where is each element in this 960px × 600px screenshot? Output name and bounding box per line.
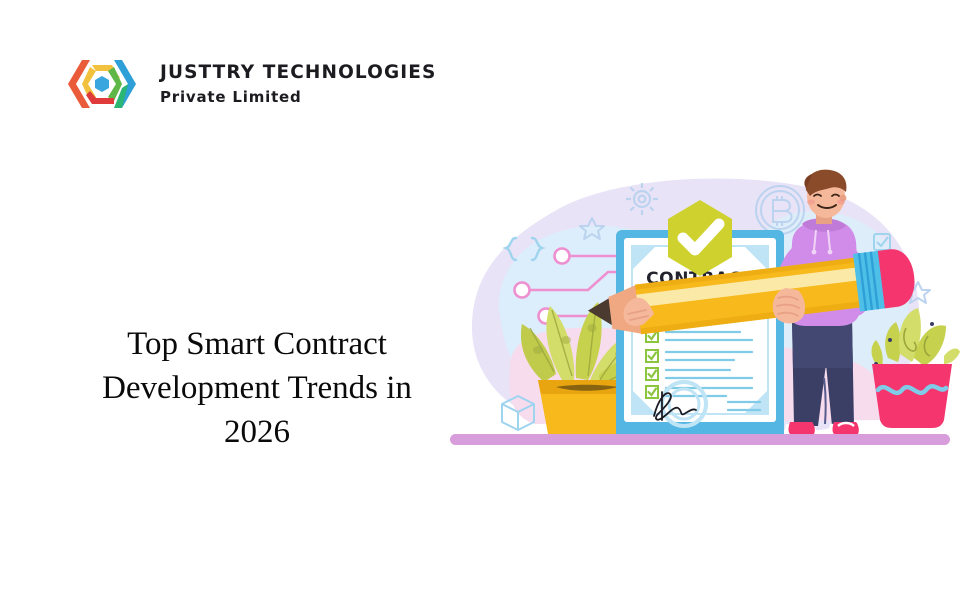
headline-line-3: 2026 <box>42 410 472 454</box>
banner-canvas: JUSTTRY TECHNOLOGIES Private Limited Top… <box>0 0 960 600</box>
headline-line-2: Development Trends in <box>42 366 472 410</box>
brand-logo[interactable]: JUSTTRY TECHNOLOGIES Private Limited <box>60 54 436 114</box>
hexagon-chevron-logo-icon <box>60 54 144 114</box>
smart-contract-signing-illustration: CONTRACT <box>440 168 960 468</box>
headline-line-1: Top Smart Contract <box>42 322 472 366</box>
ground-bar <box>450 434 950 445</box>
brand-logo-text: JUSTTRY TECHNOLOGIES Private Limited <box>160 62 436 106</box>
company-name: JUSTTRY TECHNOLOGIES <box>160 62 436 83</box>
company-suffix: Private Limited <box>160 88 436 106</box>
page-title: Top Smart Contract Development Trends in… <box>42 322 472 455</box>
